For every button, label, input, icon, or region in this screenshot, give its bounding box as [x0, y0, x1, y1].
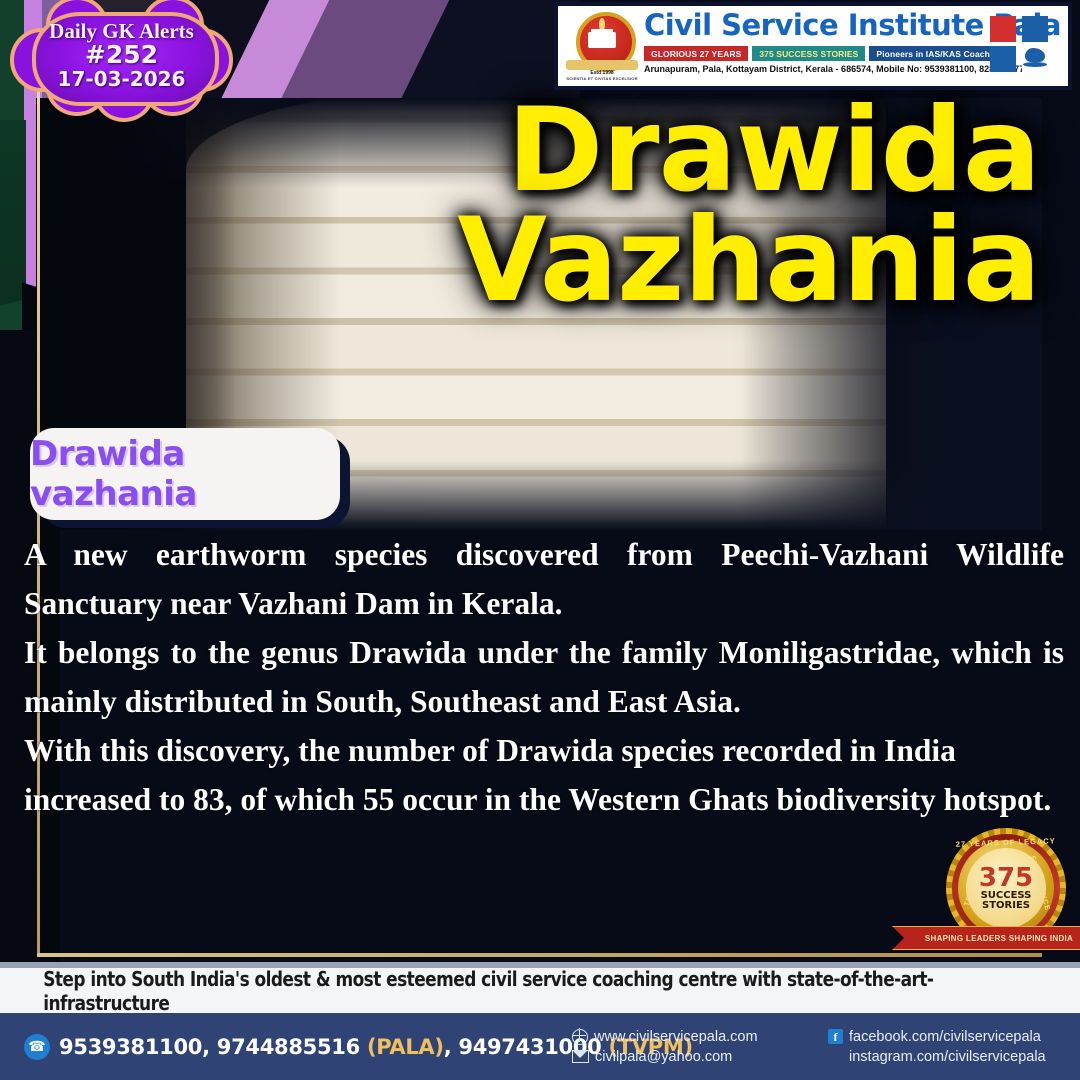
- pill-success-stories: 375 SUCCESS STORIES: [752, 46, 865, 61]
- phone-main: 9539381100, 9744885516: [59, 1035, 367, 1059]
- emblem-motto-label: SCIENTIA ET CIVITAS EXCELSIOR: [566, 76, 638, 81]
- badge-date: 17-03-2026: [58, 68, 186, 90]
- footer-social-group: f facebook.com/civilservicepala instagra…: [822, 1027, 1080, 1067]
- header-square-blue-icon: [1022, 16, 1048, 42]
- institute-emblem-icon: Estd 1998 SCIENTIA ET CIVITAS EXCELSIOR: [566, 10, 638, 82]
- pill-glorious-years: GLORIOUS 27 YEARS: [644, 46, 748, 61]
- globe-icon: [572, 1029, 588, 1045]
- phone-pala-tag: (PALA): [367, 1035, 444, 1059]
- badge-number: #252: [85, 42, 158, 68]
- footer-facebook: facebook.com/civilservicepala: [849, 1027, 1041, 1047]
- header-square-blue2-icon: [990, 46, 1016, 72]
- gold-horizontal-rule: [37, 953, 1042, 957]
- poster-canvas: Drawida Vazhania Daily GK Alerts #252 17…: [0, 0, 1080, 1080]
- seal-number: 375: [979, 865, 1033, 891]
- chip-face: Drawida vazhania: [30, 428, 340, 520]
- badge-title: Daily GK Alerts: [49, 20, 194, 42]
- title-line-2: Vazhania: [457, 206, 1040, 316]
- article-body: A new earthworm species discovered from …: [24, 530, 1064, 824]
- institute-header-banner: Estd 1998 SCIENTIA ET CIVITAS EXCELSIOR …: [556, 4, 1070, 88]
- footer-tagline-bar: Step into South India's oldest & most es…: [0, 968, 1080, 1013]
- institute-pill-row: GLORIOUS 27 YEARS 375 SUCCESS STORIES Pi…: [644, 46, 1010, 61]
- footer-phone-group: ☎ 9539381100, 9744885516 (PALA), 9497431…: [0, 1034, 572, 1060]
- pill-pioneers: Pioneers in IAS/KAS Coaching: [869, 46, 1010, 61]
- seal-ribbon-text: SHAPING LEADERS SHAPING INDIA: [925, 934, 1073, 943]
- footer-website: www.civilservicepala.com: [594, 1027, 758, 1047]
- footer-instagram: instagram.com/civilservicepala: [849, 1049, 1046, 1065]
- facebook-icon: f: [828, 1029, 843, 1044]
- species-name-label: Drawida vazhania: [30, 434, 340, 514]
- footer-tagline-text: Step into South India's oldest & most es…: [43, 967, 1037, 1015]
- seal-word-stories: STORIES: [982, 901, 1030, 912]
- page-title: Drawida Vazhania: [457, 96, 1040, 316]
- daily-gk-alerts-badge: Daily GK Alerts #252 17-03-2026: [24, 10, 219, 100]
- footer-facebook-row[interactable]: f facebook.com/civilservicepala: [828, 1027, 1080, 1047]
- envelope-icon: [572, 1050, 589, 1063]
- species-name-chip: Drawida vazhania: [30, 428, 340, 523]
- footer-web-group: www.civilservicepala.com civilpala@yahoo…: [572, 1027, 822, 1067]
- phone-icon: ☎: [24, 1034, 50, 1060]
- body-paragraph-2: It belongs to the genus Drawida under th…: [24, 628, 1064, 726]
- footer-website-row[interactable]: www.civilservicepala.com: [572, 1027, 822, 1047]
- seal-ribbon: SHAPING LEADERS SHAPING INDIA: [892, 926, 1080, 950]
- badge-text-group: Daily GK Alerts #252 17-03-2026: [24, 10, 219, 100]
- body-paragraph-1: A new earthworm species discovered from …: [24, 530, 1064, 628]
- footer-instagram-row[interactable]: instagram.com/civilservicepala: [828, 1047, 1080, 1067]
- success-stories-seal: 27 YEARS OF LEGACY TRADITION EXCELLENCE …: [944, 828, 1072, 960]
- footer-top-divider: [0, 962, 1080, 968]
- header-square-red-icon: [990, 16, 1016, 42]
- header-graduation-hand-icon: [1022, 46, 1048, 72]
- footer-contact-bar: ☎ 9539381100, 9744885516 (PALA), 9497431…: [0, 1013, 1080, 1080]
- body-paragraph-3: With this discovery, the number of Drawi…: [24, 726, 1064, 824]
- footer-email: civilpala@yahoo.com: [595, 1047, 732, 1067]
- institute-address: Arunapuram, Pala, Kottayam District, Ker…: [644, 64, 1029, 74]
- footer-email-row[interactable]: civilpala@yahoo.com: [572, 1047, 822, 1067]
- seal-inner-disc: 375 SUCCESS STORIES: [966, 848, 1046, 928]
